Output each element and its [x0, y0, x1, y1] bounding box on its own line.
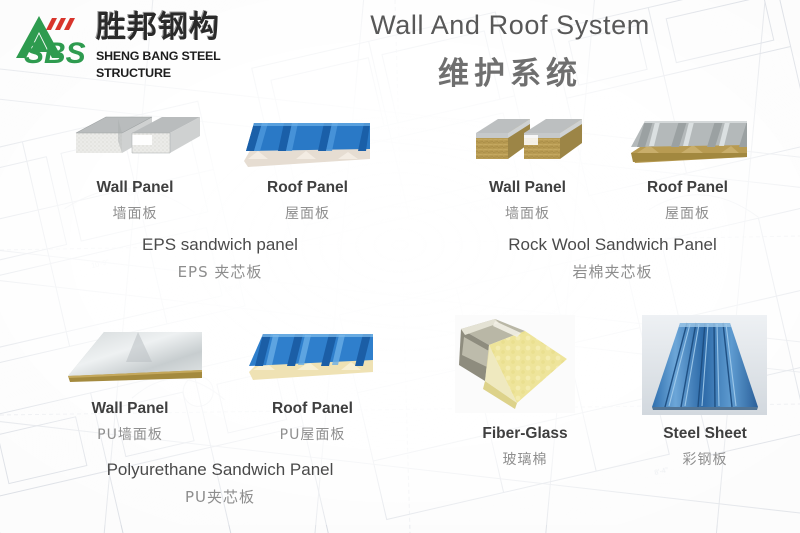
page-title-chinese: 维护系统 [300, 48, 720, 93]
steel-sheet-image [642, 315, 767, 415]
fiber-glass-roll-image [455, 315, 575, 413]
pu-roof-label-cn: PU屋面板 [225, 424, 400, 444]
rockwool-group-title-cn: 岩棉夹芯板 [440, 261, 785, 282]
pu-roof-panel-image [243, 326, 383, 388]
pu-wall-label-cn: PU墙面板 [40, 424, 220, 444]
slide-canvas: GARAGE 18'-0" Family Room 10'-9" Q 2 8'-… [0, 0, 800, 533]
eps-roof-label-en: Roof Panel [220, 179, 395, 197]
pu-wall-panel-image [60, 322, 210, 388]
pu-wall-label-en: Wall Panel [40, 400, 220, 418]
svg-text:18'-0": 18'-0" [224, 283, 243, 294]
eps-group-title-en: EPS sandwich panel [40, 235, 400, 255]
eps-roof-panel-image [238, 115, 378, 175]
sbs-roof-mark-icon: SBS [8, 8, 94, 66]
eps-wall-label-cn: 墙面板 [50, 203, 220, 223]
product-group-rockwool: Wall Panel 墙面板 [440, 105, 785, 275]
logo-chinese-text: 胜邦钢构 [96, 7, 280, 49]
fiber-glass-label-en: Fiber-Glass [435, 425, 615, 443]
product-group-eps: Wall Panel 墙面板 [40, 105, 400, 275]
company-logo: SBS 胜邦钢构 SHENG BANG STEEL STRUCTURE [8, 6, 280, 70]
rockwool-roof-panel-image [623, 113, 753, 175]
steel-sheet-label-en: Steel Sheet [620, 425, 790, 443]
rockwool-roof-label-cn: 屋面板 [605, 203, 770, 223]
pu-group-title-en: Polyurethane Sandwich Panel [35, 460, 405, 480]
product-group-pu: Wall Panel PU墙面板 [35, 320, 405, 500]
rockwool-wall-label-en: Wall Panel [450, 179, 605, 197]
rockwool-group-title-en: Rock Wool Sandwich Panel [440, 235, 785, 255]
logo-chinese-name: 胜邦钢构 [96, 7, 280, 49]
rockwool-wall-label-cn: 墙面板 [450, 203, 605, 223]
page-title-english: Wall And Roof System [300, 10, 720, 41]
svg-text:SBS: SBS [24, 37, 86, 66]
eps-group-title-cn: EPS 夹芯板 [40, 261, 400, 282]
pu-roof-label-en: Roof Panel [225, 400, 400, 418]
pu-group-title-cn: PU夹芯板 [35, 486, 405, 507]
rockwool-wall-panel-image [468, 109, 588, 175]
steel-sheet-label-cn: 彩钢板 [620, 449, 790, 469]
eps-roof-label-cn: 屋面板 [220, 203, 395, 223]
rockwool-roof-label-en: Roof Panel [605, 179, 770, 197]
logo-english-name: SHENG BANG STEEL STRUCTURE [96, 48, 280, 66]
fiber-glass-label-cn: 玻璃棉 [435, 449, 615, 469]
eps-wall-label-en: Wall Panel [50, 179, 220, 197]
product-group-materials: Fiber-Glass 玻璃棉 [435, 315, 790, 485]
logo-english-text: SHENG BANG STEEL STRUCTURE [96, 48, 284, 82]
eps-wall-panel-image [66, 105, 206, 175]
